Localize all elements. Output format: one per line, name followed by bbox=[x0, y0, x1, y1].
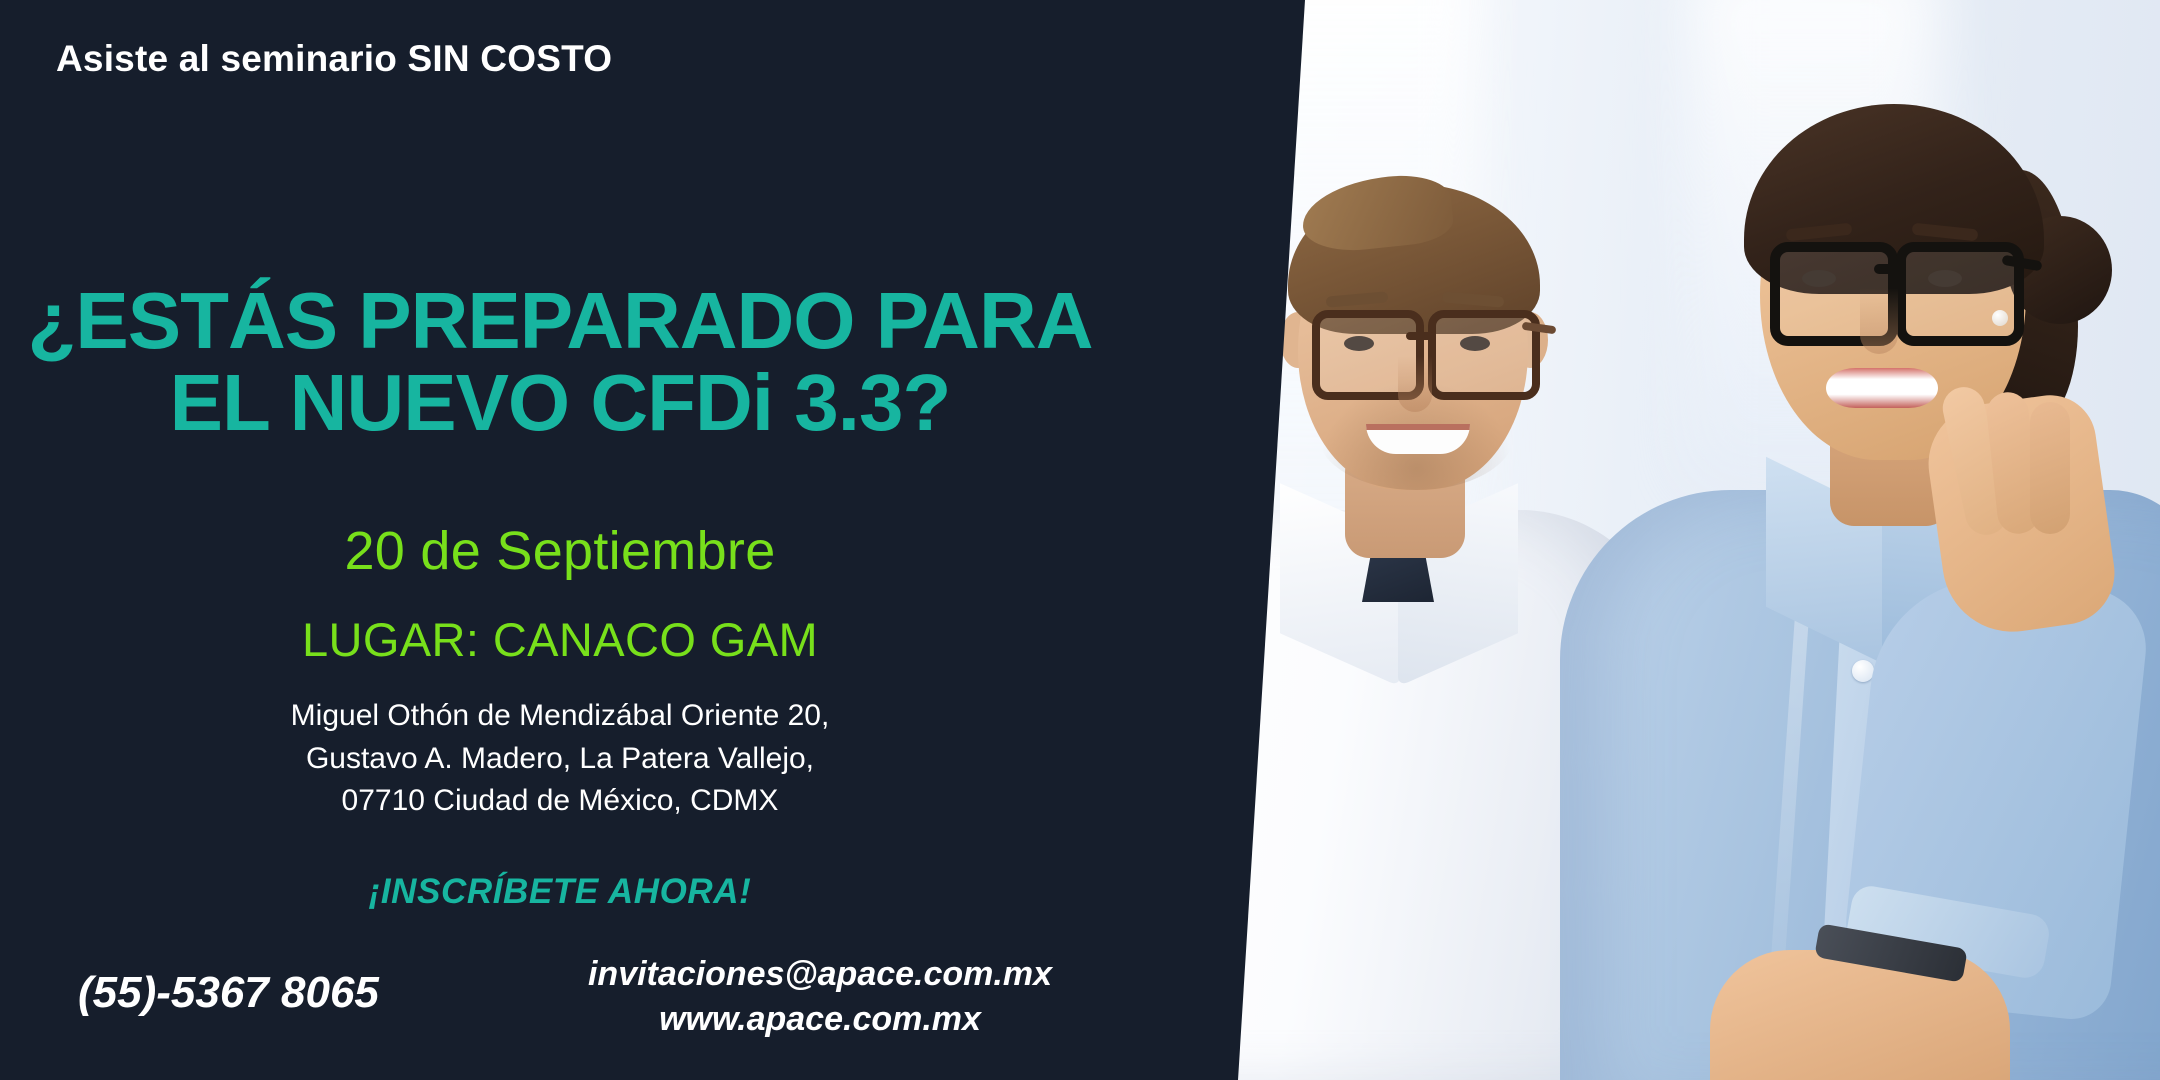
kicker-text: Asiste al seminario SIN COSTO bbox=[56, 38, 612, 80]
woman-nose bbox=[1860, 288, 1898, 354]
address-line-2: Gustavo A. Madero, La Patera Vallejo, bbox=[0, 738, 1120, 781]
call-to-action-text[interactable]: ¡INSCRÍBETE AHORA! bbox=[0, 872, 1120, 912]
event-address: Miguel Othón de Mendizábal Oriente 20, G… bbox=[0, 695, 1120, 823]
man-smile bbox=[1366, 424, 1470, 454]
event-venue: LUGAR: CANACO GAM bbox=[0, 612, 1120, 667]
promotional-banner: Asiste al seminario SIN COSTO ¿ESTÁS PRE… bbox=[0, 0, 2160, 1080]
contact-block: invitaciones@apace.com.mx www.apace.com.… bbox=[560, 952, 1080, 1042]
event-date: 20 de Septiembre bbox=[0, 520, 1120, 582]
contact-website[interactable]: www.apace.com.mx bbox=[560, 997, 1080, 1042]
woman-clasped-hands bbox=[1710, 950, 2010, 1080]
address-line-1: Miguel Othón de Mendizábal Oriente 20, bbox=[0, 695, 1120, 738]
headline: ¿ESTÁS PREPARADO PARA EL NUEVO CFDi 3.3? bbox=[0, 280, 1120, 443]
man-eyeglass-bridge bbox=[1406, 332, 1434, 340]
woman-finger bbox=[2030, 402, 2070, 534]
contact-email[interactable]: invitaciones@apace.com.mx bbox=[560, 952, 1080, 997]
contact-phone[interactable]: (55)-5367 8065 bbox=[78, 968, 379, 1018]
headline-line-1: ¿ESTÁS PREPARADO PARA bbox=[27, 276, 1092, 365]
address-line-3: 07710 Ciudad de México, CDMX bbox=[0, 780, 1120, 823]
man-nose bbox=[1398, 356, 1432, 412]
banner-content: Asiste al seminario SIN COSTO ¿ESTÁS PRE… bbox=[0, 0, 1240, 1080]
headline-line-2: EL NUEVO CFDi 3.3? bbox=[0, 362, 1120, 444]
woman-smile bbox=[1826, 368, 1938, 408]
woman-eyeglass-bridge bbox=[1874, 264, 1904, 274]
woman-figure bbox=[1530, 20, 2160, 1080]
